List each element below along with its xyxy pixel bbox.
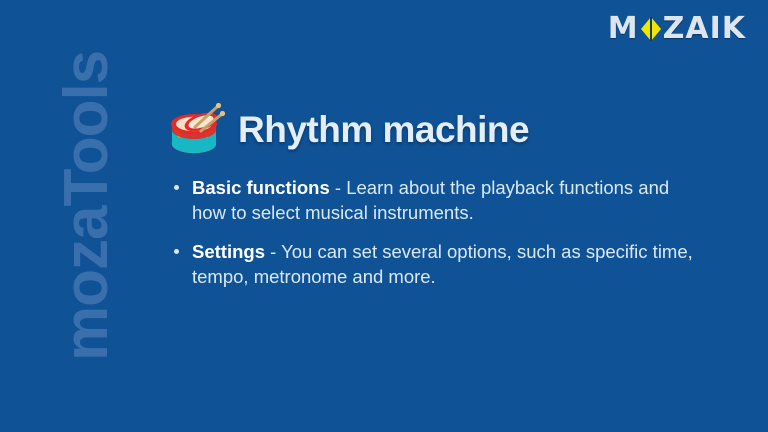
bullet-dot-icon bbox=[174, 185, 179, 190]
title-row: Rhythm machine bbox=[168, 96, 708, 162]
watermark-label: mozaTools bbox=[56, 51, 118, 361]
list-item: Settings - You can set several options, … bbox=[168, 240, 708, 290]
bullet-list: Basic functions - Learn about the playba… bbox=[168, 176, 708, 290]
brand-letters-zaik: ZAIK bbox=[663, 14, 746, 44]
list-item: Basic functions - Learn about the playba… bbox=[168, 176, 708, 226]
bullet-dot-icon bbox=[174, 249, 179, 254]
watermark: mozaTools bbox=[47, 31, 127, 361]
bullet-separator: - bbox=[265, 241, 281, 262]
bullet-separator: - bbox=[330, 177, 346, 198]
drum-icon bbox=[168, 100, 230, 158]
bullet-term: Basic functions bbox=[192, 177, 330, 198]
brand-letter-m: M bbox=[608, 14, 639, 44]
slide-content: Rhythm machine Basic functions - Learn a… bbox=[168, 96, 708, 304]
brand-logo: M ZAIK bbox=[608, 13, 746, 45]
diamond-icon bbox=[640, 16, 662, 42]
page-title: Rhythm machine bbox=[238, 111, 529, 148]
bullet-term: Settings bbox=[192, 241, 265, 262]
